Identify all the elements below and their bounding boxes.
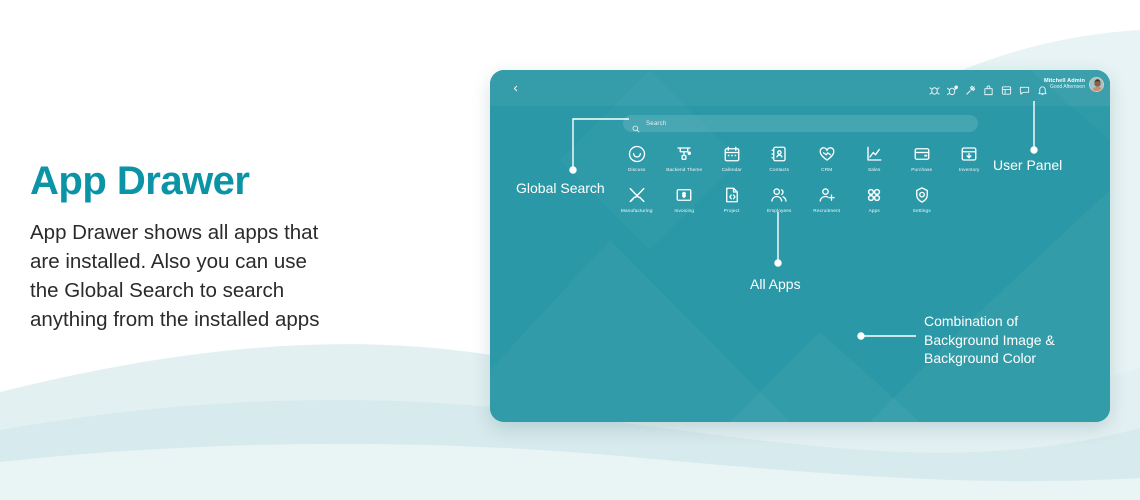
app-item-employees[interactable]: Employees bbox=[756, 186, 804, 213]
app-item-recruitment[interactable]: Recruitment bbox=[803, 186, 851, 213]
slide-canvas: App Drawer App Drawer shows all apps tha… bbox=[0, 0, 1140, 500]
app-item-purchase[interactable]: Purchase bbox=[898, 145, 946, 172]
app-item-invoicing[interactable]: Invoicing bbox=[661, 186, 709, 213]
annotation-all-apps: All Apps bbox=[750, 275, 801, 294]
apps-icon bbox=[865, 186, 883, 204]
app-item-project[interactable]: Project bbox=[708, 186, 756, 213]
app-grid: Discuss Backend Theme bbox=[613, 145, 993, 213]
settings-icon bbox=[913, 186, 931, 204]
employees-icon bbox=[770, 186, 788, 204]
backend-theme-icon bbox=[675, 145, 693, 163]
app-label: Manufacturing bbox=[621, 208, 653, 213]
page-title: App Drawer bbox=[30, 160, 430, 202]
calendar-icon bbox=[723, 145, 741, 163]
app-label: Employees bbox=[767, 208, 792, 213]
bag-icon[interactable] bbox=[983, 83, 994, 94]
avatar[interactable] bbox=[1089, 77, 1104, 92]
app-label: Invoicing bbox=[674, 208, 694, 213]
app-item-contacts[interactable]: Contacts bbox=[756, 145, 804, 172]
app-item-calendar[interactable]: Calendar bbox=[708, 145, 756, 172]
grid-icon[interactable] bbox=[1001, 83, 1012, 94]
app-label: Sales bbox=[868, 167, 880, 172]
app-item-inventory[interactable]: Inventory bbox=[946, 145, 994, 172]
app-label: Calendar bbox=[722, 167, 742, 172]
bug-icon[interactable] bbox=[929, 83, 940, 94]
purchase-icon bbox=[913, 145, 931, 163]
app-label: Backend Theme bbox=[666, 167, 702, 172]
chevron-left-icon[interactable] bbox=[508, 81, 522, 95]
app-label: Purchase bbox=[911, 167, 932, 172]
app-label: Settings bbox=[913, 208, 931, 213]
annotation-user-panel: User Panel bbox=[993, 156, 1062, 175]
app-item-apps[interactable]: Apps bbox=[851, 186, 899, 213]
bug-activity-icon[interactable] bbox=[947, 83, 958, 94]
app-item-discuss[interactable]: Discuss bbox=[613, 145, 661, 172]
discuss-icon bbox=[628, 145, 646, 163]
sales-icon bbox=[865, 145, 883, 163]
recruitment-icon bbox=[818, 186, 836, 204]
search-icon bbox=[632, 120, 640, 128]
inventory-icon bbox=[960, 145, 978, 163]
app-label: Inventory bbox=[959, 167, 980, 172]
app-drawer-panel: Mitchell Admin Good Afternoon Search bbox=[490, 70, 1110, 422]
app-label: Contacts bbox=[769, 167, 789, 172]
app-label: Apps bbox=[869, 208, 880, 213]
search-input[interactable]: Search bbox=[646, 121, 667, 127]
app-item-crm[interactable]: CRM bbox=[803, 145, 851, 172]
app-label: Discuss bbox=[628, 167, 645, 172]
app-item-backend-theme[interactable]: Backend Theme bbox=[661, 145, 709, 172]
global-search-bar[interactable]: Search bbox=[623, 115, 978, 132]
wrench-icon[interactable] bbox=[965, 83, 976, 94]
contacts-icon bbox=[770, 145, 788, 163]
manufacturing-icon bbox=[628, 186, 646, 204]
left-text-block: App Drawer App Drawer shows all apps tha… bbox=[30, 160, 430, 334]
page-description: App Drawer shows all apps that are insta… bbox=[30, 218, 430, 334]
app-label: CRM bbox=[821, 167, 832, 172]
user-greeting: Good Afternoon bbox=[1044, 85, 1085, 91]
crm-icon bbox=[818, 145, 836, 163]
app-item-sales[interactable]: Sales bbox=[851, 145, 899, 172]
invoicing-icon bbox=[675, 186, 693, 204]
project-icon bbox=[723, 186, 741, 204]
system-icon-bar bbox=[929, 81, 1048, 95]
app-item-manufacturing[interactable]: Manufacturing bbox=[613, 186, 661, 213]
user-panel[interactable]: Mitchell Admin Good Afternoon bbox=[1044, 77, 1104, 92]
app-label: Project bbox=[724, 208, 740, 213]
app-item-settings[interactable]: Settings bbox=[898, 186, 946, 213]
annotation-background-combination: Combination of Background Image & Backgr… bbox=[924, 312, 1055, 368]
message-icon[interactable] bbox=[1019, 83, 1030, 94]
annotation-global-search: Global Search bbox=[516, 179, 605, 198]
app-label: Recruitment bbox=[813, 208, 840, 213]
user-text: Mitchell Admin Good Afternoon bbox=[1044, 78, 1085, 90]
